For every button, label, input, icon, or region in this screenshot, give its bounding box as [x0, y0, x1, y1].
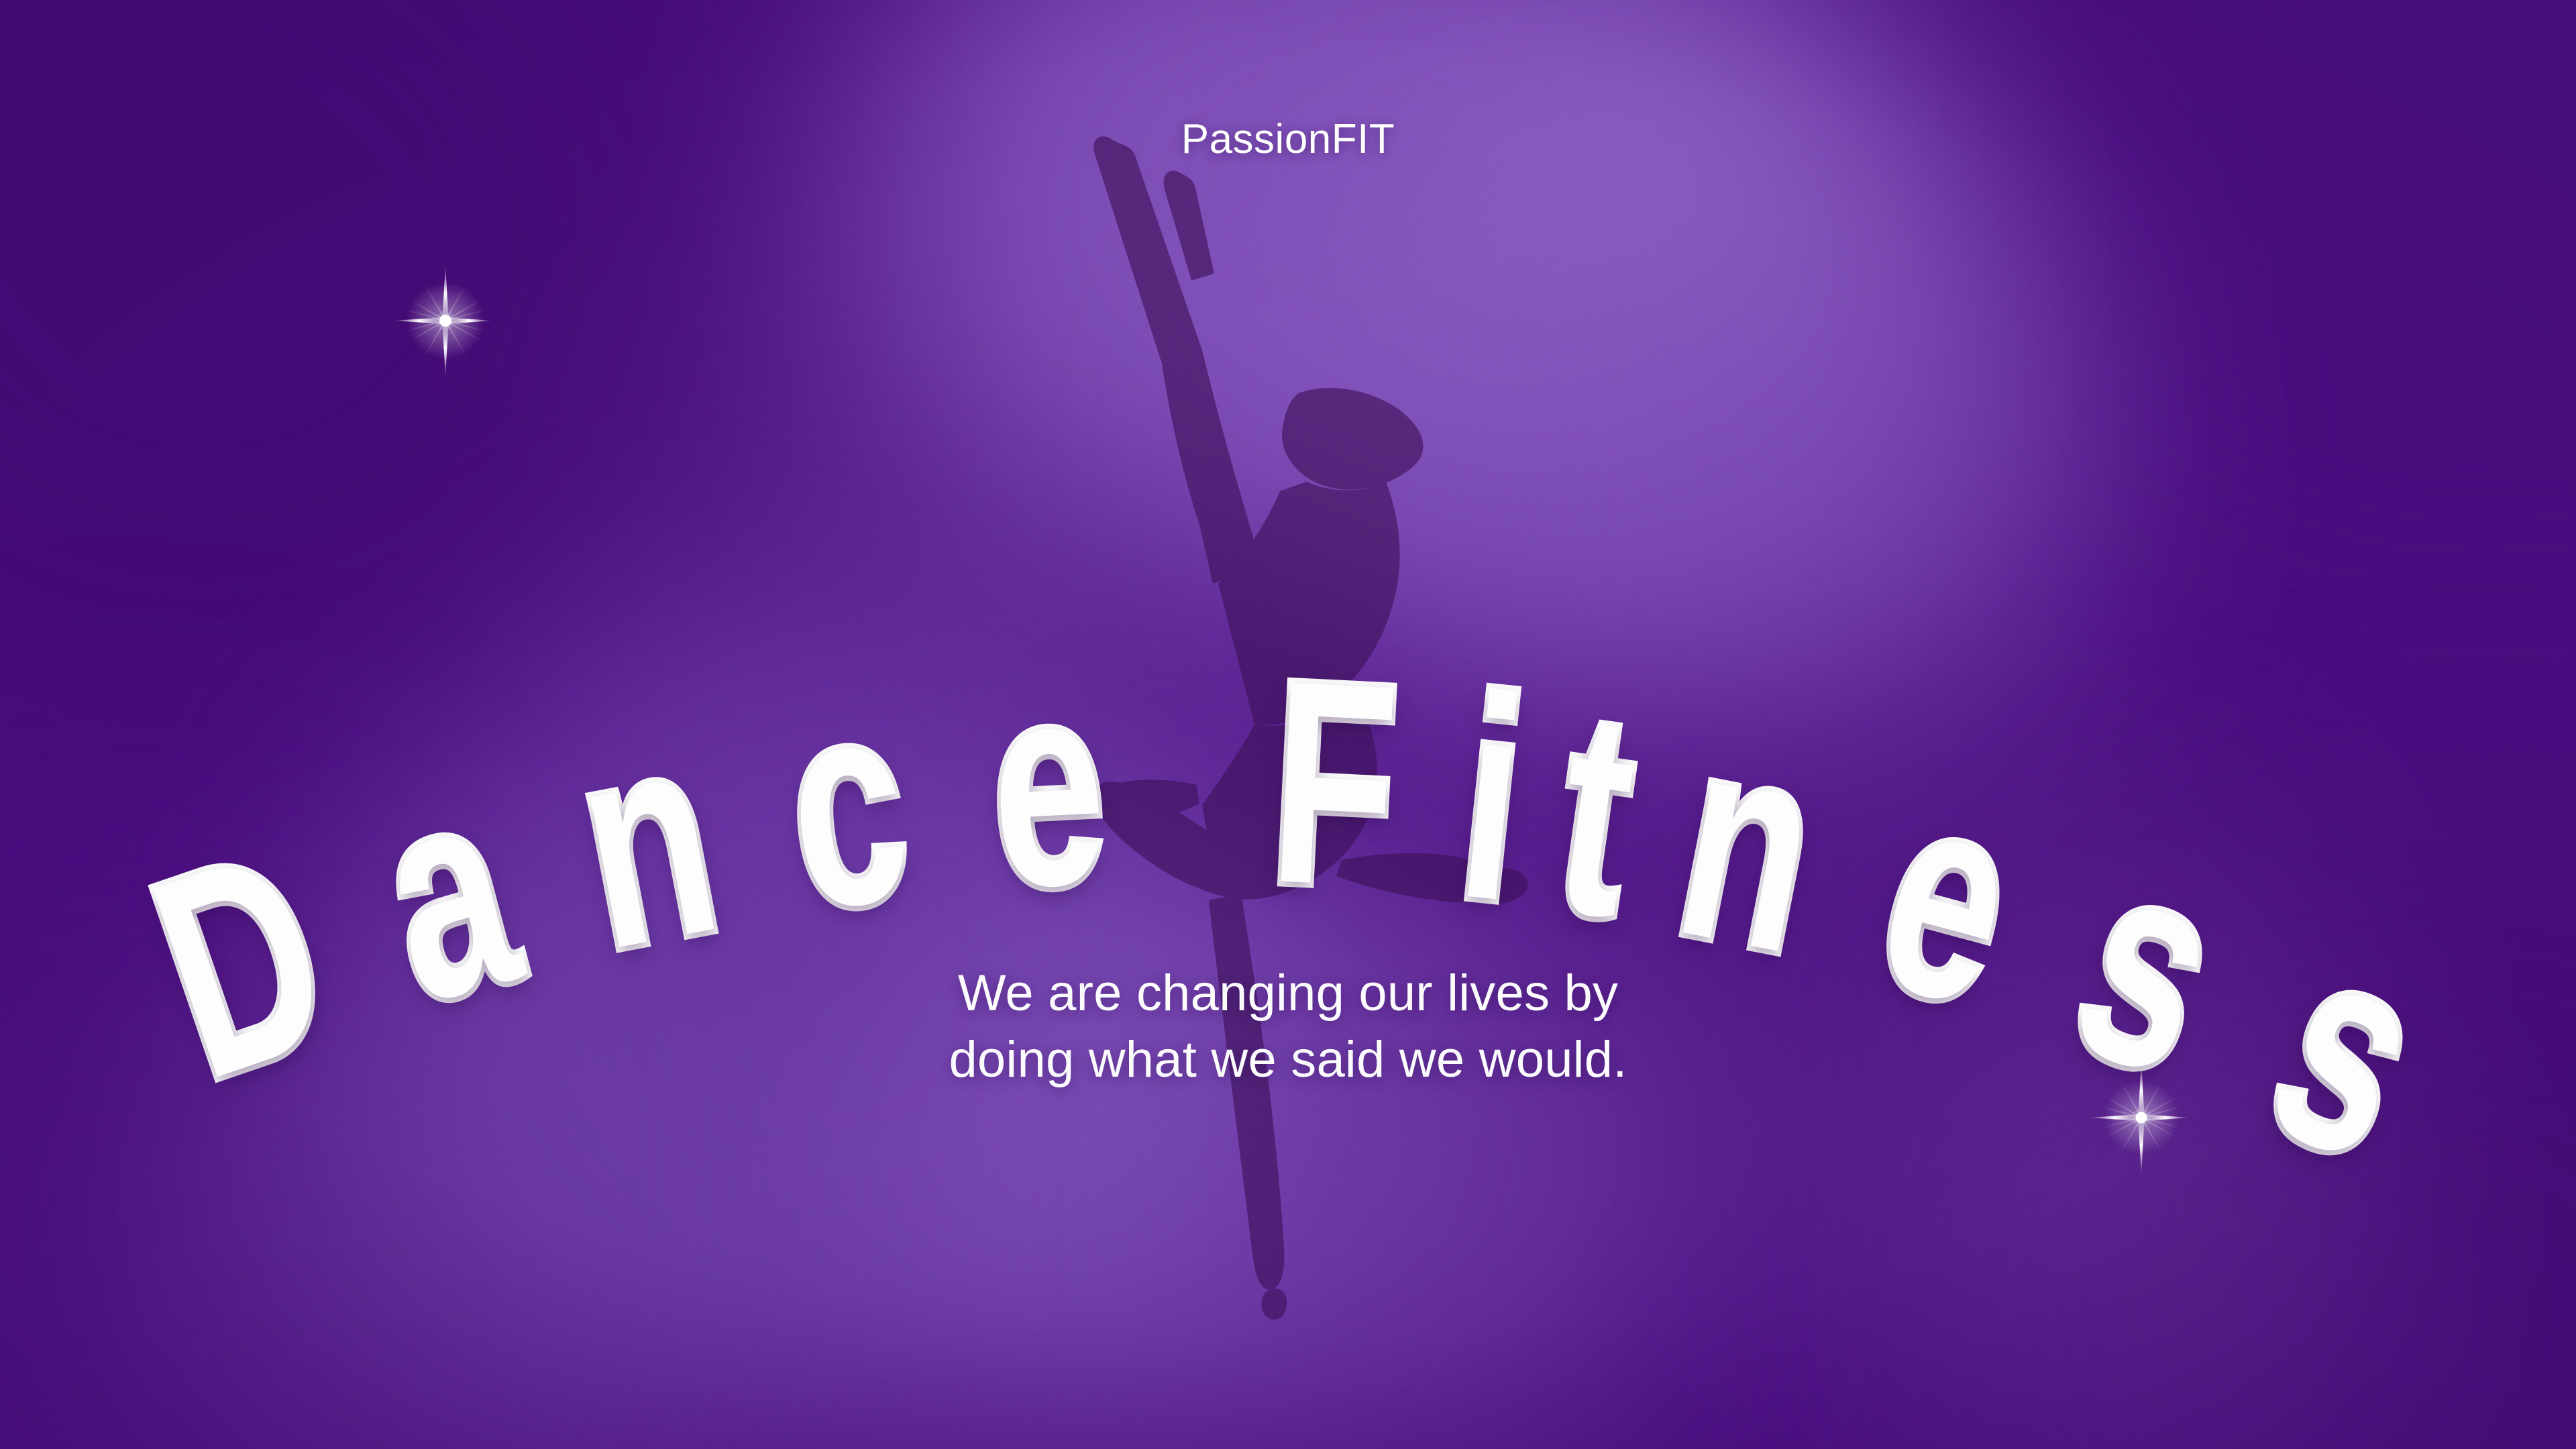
headline-char: e: [986, 664, 1110, 906]
headline-char: n: [1666, 716, 1832, 972]
headline-space: [1160, 662, 1216, 899]
headline-char: i: [1452, 679, 1533, 920]
headline-char: c: [777, 681, 917, 929]
tagline: We are changing our lives by doing what …: [0, 961, 2576, 1093]
headline-arc: Dance Fitness: [114, 429, 2462, 979]
headline-char: t: [1547, 692, 1647, 936]
poster-canvas: PassionFIT Dance Fitness We are changing…: [0, 0, 2576, 1449]
tagline-line-1: We are changing our lives by: [0, 961, 2576, 1027]
tagline-line-2: doing what we said we would.: [0, 1027, 2576, 1093]
headline-block: Dance Fitness: [0, 429, 2576, 993]
brand-name: PassionFIT: [0, 115, 2576, 163]
headline-char: F: [1267, 663, 1401, 906]
headline-char: n: [565, 713, 731, 969]
